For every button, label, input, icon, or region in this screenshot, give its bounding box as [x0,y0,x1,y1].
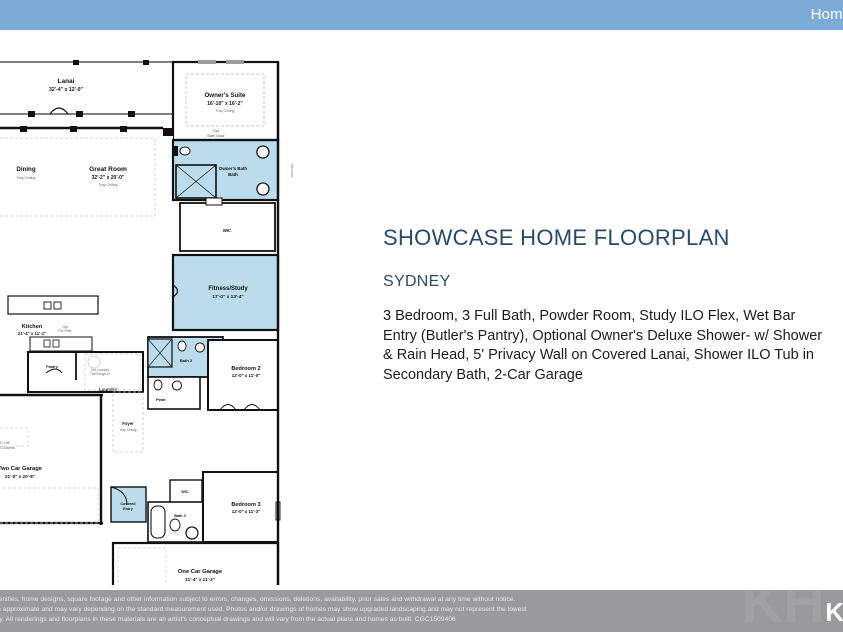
room-note-great-room: Tray Ceiling [98,183,117,187]
room-label-fitness-study: Fitness/Study [208,286,248,292]
room-label-one-car-garage: One Car Garage [178,569,223,575]
room-label-lanai: Lanai [58,78,75,85]
room-lanai: Lanai 32'-4" x 12'-0" [0,60,173,117]
room-owners-wic: WIC [180,198,275,251]
room-label-two-car-garage: Two Car Garage [0,466,43,472]
room-owners-suite: Owner's Suite 16'-10" x 16'-2" Tray Ceil… [173,60,278,140]
room-label-bedroom-2: Bedroom 2 [231,366,260,372]
room-label-owners-bath: Owner's Bath [219,166,247,171]
room-note-owners-suite: Tray Ceiling [215,109,234,113]
room-label-laundry: Laundry [99,387,118,392]
room-label-pantry: Pantry [46,365,59,369]
room-label-bath-2: Bath 2 [180,358,193,363]
room-dims-bedroom-3: 12'-0" x 11'-3" [232,509,260,514]
room-label-powder: Pwdr [156,397,166,402]
room-one-car-garage: One Car Garage 21'-4" x 11'-3" [113,543,278,585]
room-label-dining: Dining [16,166,35,173]
room-great-room: Great Room 32'-2" x 20'-0" Tray Ceiling … [0,126,173,228]
room-pantry-laundry: Pantry Opt Laundry Tub Rough-In Laundry [28,352,143,392]
room-dims-lanai: 32'-4" x 12'-0" [49,87,83,93]
room-bedroom-2: Bedroom 2 12'-0" x 11'-0" [208,340,278,410]
header-bar: Homesit [0,0,843,30]
room-label-bedroom-3: Bedroom 3 [231,502,260,508]
room-kitchen: Kitchen 21'-4" x 11'-1" Opt Pot Filler O… [0,296,98,351]
svg-text:Tub Rough-In: Tub Rough-In [90,372,110,376]
svg-text:ATTIC Access: ATTIC Access [0,446,15,450]
svg-text:Barn Door: Barn Door [207,134,225,138]
footer-bar: KH Homesites, amenities, home designs, s… [0,590,843,632]
room-wic-3: WIC [170,480,202,504]
plan-name: SYDNEY [383,273,843,291]
room-label-owners-suite: Owner's Suite [204,92,246,99]
info-panel: SHOWCASE HOME FLOORPLAN SYDNEY 3 Bedroom… [383,225,843,385]
room-powder: Pwdr [148,377,200,409]
room-bath-3: Bath 3 [148,502,203,542]
svg-text:Pot Filler: Pot Filler [58,329,72,333]
room-dims-great-room: 32'-2" x 20'-0" [92,175,125,181]
room-label-wic-3: WIC [181,490,189,494]
room-dims-one-car-garage: 21'-4" x 11'-3" [185,577,215,582]
room-label-great-room: Great Room [89,166,127,173]
room-foyer: Foyer Tray Ceiling [113,392,143,452]
floorplan-image: Lanai 32'-4" x 12'-0" Owner's Suite 16'-… [0,40,300,585]
room-label-bath-3: Bath 3 [174,514,186,518]
room-dims-bedroom-2: 12'-0" x 11'-0" [232,373,260,378]
svg-text:Bath: Bath [228,172,238,177]
room-label-owners-wic: WIC [223,228,231,233]
room-two-car-garage: 22' x 54' ATTIC Access Two Car Garage 21… [0,395,103,525]
header-title: Homesit [811,6,843,23]
room-dims-owners-suite: 16'-10" x 16'-2" [207,101,243,107]
room-dims-two-car-garage: 21'-0" x 20'-8" [5,474,35,479]
svg-text:Opt: Opt [213,129,220,133]
page-title: SHOWCASE HOME FLOORPLAN [383,225,843,251]
footer-disclaimer: Homesites, amenities, home designs, squa… [0,595,834,625]
brand-logo: K [825,597,843,628]
room-dims-kitchen: 21'-4" x 11'-1" [18,331,46,336]
room-label-foyer: Foyer [122,421,134,426]
svg-text:Entry: Entry [123,507,134,511]
room-note-dining: Tray Ceiling [16,176,35,180]
annotation-transom: Transom [290,163,294,176]
room-bedroom-3: Bedroom 3 12'-0" x 11'-3" [203,472,280,542]
plan-description: 3 Bedroom, 3 Full Bath, Powder Room, Stu… [383,307,843,385]
room-dims-fitness-study: 17'-0" x 13'-4" [212,294,243,300]
floorplan-drawing: Lanai 32'-4" x 12'-0" Owner's Suite 16'-… [0,40,300,585]
room-note-foyer: Tray Ceiling [120,428,137,432]
svg-text:22' x 54': 22' x 54' [0,441,11,445]
room-label-covered-entry: Covered [120,502,136,506]
room-label-kitchen: Kitchen [22,324,43,330]
